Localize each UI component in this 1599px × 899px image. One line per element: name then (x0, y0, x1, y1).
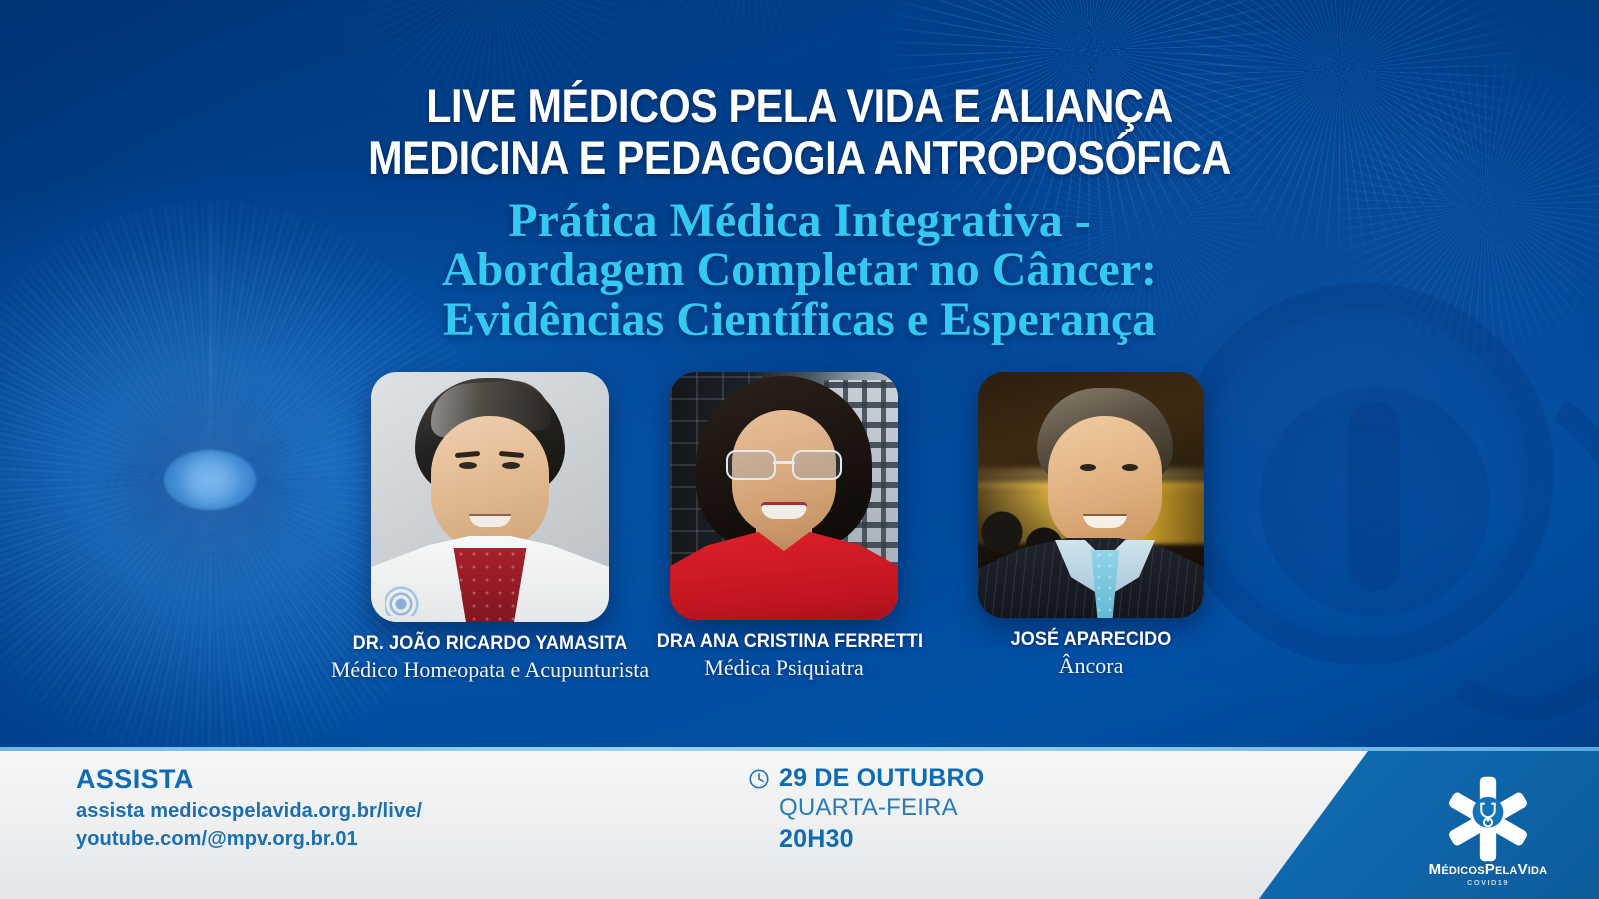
speaker-role: Médico Homeopata e Acupunturista (330, 657, 650, 683)
speaker-name: DRA ANA CRISTINA FERRETTI (657, 631, 912, 653)
photo-eyeglasses (726, 450, 842, 476)
brand-logo: MÉDICOSPELAVIDA COVID19 (1408, 771, 1568, 887)
headline-line-1: LIVE MÉDICOS PELA VIDA E ALIANÇA (426, 79, 1173, 132)
event-date-block: 29 DE OUTUBRO QUARTA-FEIRA 20H30 (748, 764, 984, 854)
eyeglass-lens-left (726, 450, 776, 480)
brand-name-ela: ELA (1495, 865, 1518, 877)
page-title: LIVE MÉDICOS PELA VIDA E ALIANÇA MEDICIN… (96, 82, 1503, 182)
event-time: 20H30 (779, 825, 984, 854)
event-date: 29 DE OUTUBRO (779, 764, 984, 793)
footer-divider (0, 747, 1599, 751)
speaker-card: DRA ANA CRISTINA FERRETTI Médica Psiquia… (650, 372, 918, 681)
brand-name: MÉDICOSPELAVIDA (1408, 861, 1568, 878)
speaker-card: JOSÉ APARECIDO Âncora (960, 372, 1222, 679)
speaker-photo (371, 372, 609, 622)
speaker-role: Médica Psiquiatra (650, 655, 918, 681)
speakers-row: DR. JOÃO RICARDO YAMASITA Médico Homeopa… (0, 372, 1599, 702)
speaker-photo (670, 372, 898, 620)
photo-face (431, 416, 549, 550)
watch-heading: ASSISTA (76, 764, 422, 795)
photo-eye (459, 462, 477, 469)
brand-name-ida: IDA (1528, 865, 1548, 877)
speaker-photo (978, 372, 1204, 618)
speaker-name: DR. JOÃO RICARDO YAMASITA (338, 633, 642, 655)
event-poster: LIVE MÉDICOS PELA VIDA E ALIANÇA MEDICIN… (0, 0, 1599, 899)
footer: ASSISTA assista medicospelavida.org.br/l… (0, 747, 1599, 899)
headline-line-2: MEDICINA E PEDAGOGIA ANTROPOSÓFICA (96, 134, 1503, 182)
page-subtitle: Prática Médica Integrativa - Abordagem C… (0, 196, 1599, 344)
brand-name-v: V (1518, 861, 1528, 878)
brand-tagline: COVID19 (1408, 878, 1568, 887)
speaker-name: JOSÉ APARECIDO (967, 629, 1216, 651)
brand-name-m: M (1429, 861, 1442, 878)
photo-mouth (761, 502, 807, 519)
photo-eye (1122, 464, 1138, 471)
watch-info-block: ASSISTA assista medicospelavida.org.br/l… (76, 764, 422, 851)
watch-link-youtube[interactable]: youtube.com/@mpv.org.br.01 (76, 828, 422, 851)
photo-eye (1080, 464, 1096, 471)
logo-inner-circle (1473, 797, 1504, 828)
star-of-life-icon (1440, 771, 1536, 867)
photo-eye (502, 462, 520, 469)
clock-icon (748, 768, 770, 790)
photo-coat-emblem (385, 576, 429, 616)
subtitle-line-2: Abordagem Completar no Câncer: (0, 245, 1599, 294)
speaker-role: Âncora (960, 653, 1222, 679)
brand-name-p: P (1485, 861, 1495, 878)
event-weekday: QUARTA-FEIRA (779, 794, 984, 822)
photo-face (1048, 416, 1162, 550)
photo-mouth (469, 514, 511, 527)
watch-link-site[interactable]: assista medicospelavida.org.br/live/ (76, 800, 422, 823)
eyeglass-lens-right (792, 450, 842, 480)
event-date-row: 29 DE OUTUBRO (748, 764, 984, 793)
subtitle-line-3: Evidências Científicas e Esperança (0, 295, 1599, 344)
title-block: LIVE MÉDICOS PELA VIDA E ALIANÇA MEDICIN… (0, 82, 1599, 344)
subtitle-line-1: Prática Médica Integrativa - (0, 196, 1599, 245)
speaker-card: DR. JOÃO RICARDO YAMASITA Médico Homeopa… (330, 372, 650, 683)
brand-name-edicos: ÉDICOS (1441, 865, 1484, 877)
